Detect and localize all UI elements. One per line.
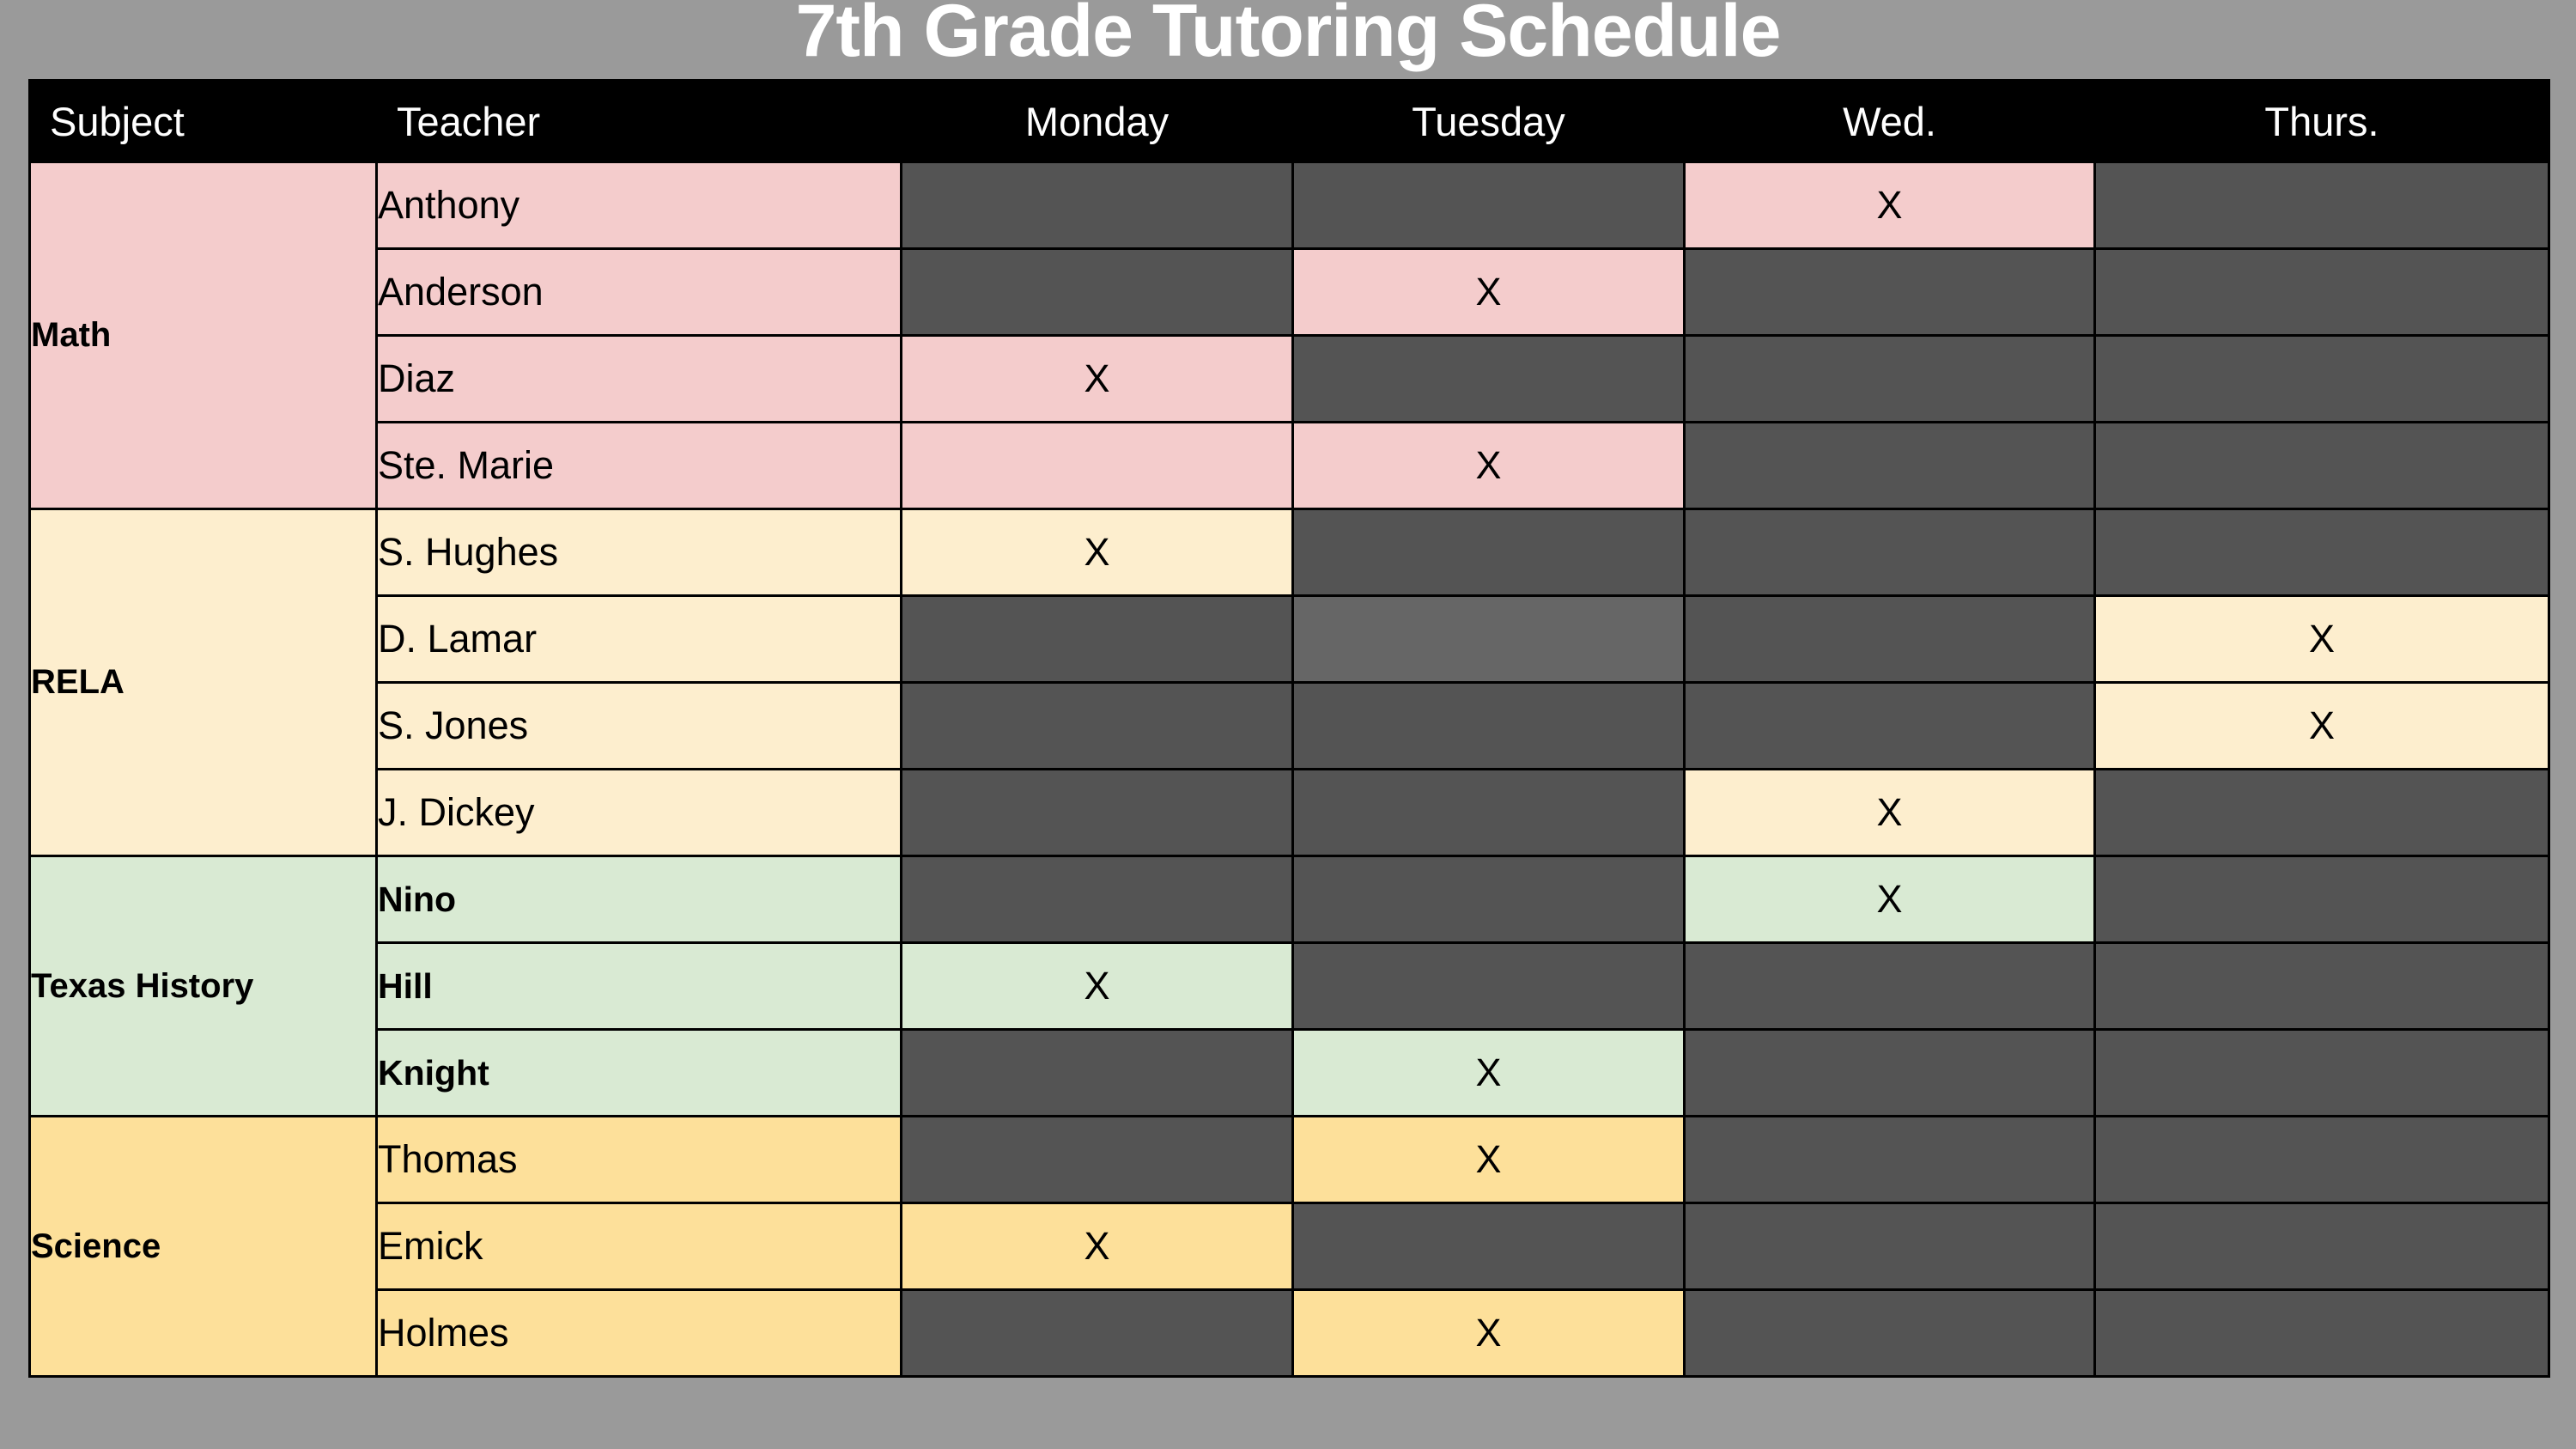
teacher-cell: S. Jones — [377, 683, 902, 770]
schedule-cell-tuesday[interactable] — [1293, 683, 1685, 770]
schedule-cell-monday[interactable]: X — [902, 943, 1293, 1030]
schedule-cell-monday[interactable] — [902, 249, 1293, 336]
teacher-cell: D. Lamar — [377, 596, 902, 683]
schedule-cell-thursday[interactable]: X — [2095, 596, 2549, 683]
teacher-cell: Thomas — [377, 1117, 902, 1203]
schedule-cell-wednesday[interactable] — [1685, 1117, 2095, 1203]
x-mark: X — [2309, 706, 2335, 745]
schedule-cell-wednesday[interactable] — [1685, 943, 2095, 1030]
schedule-cell-thursday[interactable] — [2095, 1290, 2549, 1377]
x-mark: X — [1084, 966, 1109, 1005]
schedule-cell-wednesday[interactable] — [1685, 1030, 2095, 1117]
table-row: RELAS. HughesX — [30, 509, 2549, 596]
schedule-cell-tuesday[interactable] — [1293, 943, 1685, 1030]
schedule-cell-wednesday[interactable] — [1685, 1203, 2095, 1290]
page-root: 7th Grade Tutoring Schedule Subject Teac… — [0, 0, 2576, 1449]
x-mark: X — [1876, 880, 1902, 918]
schedule-cell-thursday[interactable] — [2095, 336, 2549, 423]
schedule-cell-monday[interactable] — [902, 683, 1293, 770]
schedule-table-wrapper: Subject Teacher Monday Tuesday Wed. Thur… — [28, 79, 2548, 1378]
teacher-cell: Anderson — [377, 249, 902, 336]
schedule-cell-wednesday[interactable] — [1685, 1290, 2095, 1377]
column-header-monday[interactable]: Monday — [902, 81, 1293, 162]
schedule-cell-monday[interactable] — [902, 1030, 1293, 1117]
schedule-cell-monday[interactable] — [902, 770, 1293, 856]
teacher-cell: Hill — [377, 943, 902, 1030]
schedule-cell-wednesday[interactable]: X — [1685, 162, 2095, 249]
schedule-cell-monday[interactable] — [902, 162, 1293, 249]
schedule-cell-monday[interactable] — [902, 1290, 1293, 1377]
teacher-cell: Diaz — [377, 336, 902, 423]
schedule-cell-tuesday[interactable]: X — [1293, 423, 1685, 509]
schedule-cell-monday[interactable] — [902, 1117, 1293, 1203]
teacher-cell: S. Hughes — [377, 509, 902, 596]
schedule-cell-monday[interactable] — [902, 423, 1293, 509]
page-title: 7th Grade Tutoring Schedule — [0, 0, 2576, 74]
schedule-cell-thursday[interactable] — [2095, 509, 2549, 596]
schedule-cell-wednesday[interactable]: X — [1685, 770, 2095, 856]
table-row: J. DickeyX — [30, 770, 2549, 856]
schedule-cell-tuesday[interactable] — [1293, 1203, 1685, 1290]
schedule-cell-thursday[interactable] — [2095, 1117, 2549, 1203]
schedule-cell-tuesday[interactable] — [1293, 509, 1685, 596]
teacher-cell: Knight — [377, 1030, 902, 1117]
schedule-cell-tuesday[interactable] — [1293, 856, 1685, 943]
table-row: AndersonX — [30, 249, 2549, 336]
schedule-cell-tuesday[interactable]: X — [1293, 1290, 1685, 1377]
schedule-cell-thursday[interactable] — [2095, 1203, 2549, 1290]
table-header: Subject Teacher Monday Tuesday Wed. Thur… — [30, 81, 2549, 162]
table-row: ScienceThomasX — [30, 1117, 2549, 1203]
column-header-tuesday[interactable]: Tuesday — [1293, 81, 1685, 162]
subject-cell-science: Science — [30, 1117, 377, 1377]
teacher-cell: Holmes — [377, 1290, 902, 1377]
schedule-cell-monday[interactable]: X — [902, 509, 1293, 596]
schedule-cell-wednesday[interactable] — [1685, 336, 2095, 423]
schedule-cell-tuesday[interactable]: X — [1293, 249, 1685, 336]
teacher-cell: Ste. Marie — [377, 423, 902, 509]
schedule-cell-tuesday[interactable]: X — [1293, 1117, 1685, 1203]
x-mark: X — [1475, 446, 1501, 484]
table-row: D. LamarX — [30, 596, 2549, 683]
schedule-cell-monday[interactable] — [902, 596, 1293, 683]
x-mark: X — [1475, 1053, 1501, 1092]
schedule-cell-thursday[interactable] — [2095, 943, 2549, 1030]
schedule-cell-thursday[interactable] — [2095, 249, 2549, 336]
schedule-cell-thursday[interactable] — [2095, 770, 2549, 856]
column-header-teacher[interactable]: Teacher — [377, 81, 902, 162]
subject-cell-texas-history: Texas History — [30, 856, 377, 1117]
schedule-cell-thursday[interactable] — [2095, 1030, 2549, 1117]
table-row: HillX — [30, 943, 2549, 1030]
x-mark: X — [1876, 186, 1902, 224]
schedule-cell-tuesday[interactable] — [1293, 770, 1685, 856]
schedule-cell-wednesday[interactable] — [1685, 596, 2095, 683]
x-mark: X — [1475, 1313, 1501, 1352]
schedule-cell-tuesday[interactable] — [1293, 596, 1685, 683]
schedule-cell-tuesday[interactable] — [1293, 162, 1685, 249]
column-header-thursday[interactable]: Thurs. — [2095, 81, 2549, 162]
teacher-cell: J. Dickey — [377, 770, 902, 856]
x-mark: X — [1475, 1140, 1501, 1178]
subject-cell-rela: RELA — [30, 509, 377, 856]
schedule-cell-thursday[interactable] — [2095, 856, 2549, 943]
schedule-cell-thursday[interactable] — [2095, 162, 2549, 249]
x-mark: X — [1084, 533, 1109, 571]
table-row: Texas HistoryNinoX — [30, 856, 2549, 943]
table-row: S. JonesX — [30, 683, 2549, 770]
teacher-cell: Emick — [377, 1203, 902, 1290]
x-mark: X — [1084, 359, 1109, 398]
schedule-cell-wednesday[interactable] — [1685, 249, 2095, 336]
schedule-cell-wednesday[interactable] — [1685, 683, 2095, 770]
tutoring-schedule-table: Subject Teacher Monday Tuesday Wed. Thur… — [28, 79, 2550, 1378]
table-body: MathAnthonyXAndersonXDiazXSte. MarieXREL… — [30, 162, 2549, 1377]
table-row: KnightX — [30, 1030, 2549, 1117]
x-mark: X — [1876, 793, 1902, 831]
schedule-cell-monday[interactable]: X — [902, 336, 1293, 423]
table-row: MathAnthonyX — [30, 162, 2549, 249]
schedule-cell-wednesday[interactable] — [1685, 509, 2095, 596]
teacher-cell: Anthony — [377, 162, 902, 249]
x-mark: X — [2309, 619, 2335, 658]
column-header-subject[interactable]: Subject — [30, 81, 377, 162]
subject-cell-math: Math — [30, 162, 377, 509]
schedule-cell-wednesday[interactable] — [1685, 423, 2095, 509]
table-row: EmickX — [30, 1203, 2549, 1290]
table-row: Ste. MarieX — [30, 423, 2549, 509]
column-header-wednesday[interactable]: Wed. — [1685, 81, 2095, 162]
schedule-cell-tuesday[interactable]: X — [1293, 1030, 1685, 1117]
schedule-cell-thursday[interactable]: X — [2095, 683, 2549, 770]
table-header-row: Subject Teacher Monday Tuesday Wed. Thur… — [30, 81, 2549, 162]
schedule-cell-wednesday[interactable]: X — [1685, 856, 2095, 943]
x-mark: X — [1475, 272, 1501, 311]
table-row: DiazX — [30, 336, 2549, 423]
teacher-cell: Nino — [377, 856, 902, 943]
schedule-cell-monday[interactable]: X — [902, 1203, 1293, 1290]
table-row: HolmesX — [30, 1290, 2549, 1377]
schedule-cell-tuesday[interactable] — [1293, 336, 1685, 423]
schedule-cell-thursday[interactable] — [2095, 423, 2549, 509]
x-mark: X — [1084, 1227, 1109, 1265]
schedule-cell-monday[interactable] — [902, 856, 1293, 943]
